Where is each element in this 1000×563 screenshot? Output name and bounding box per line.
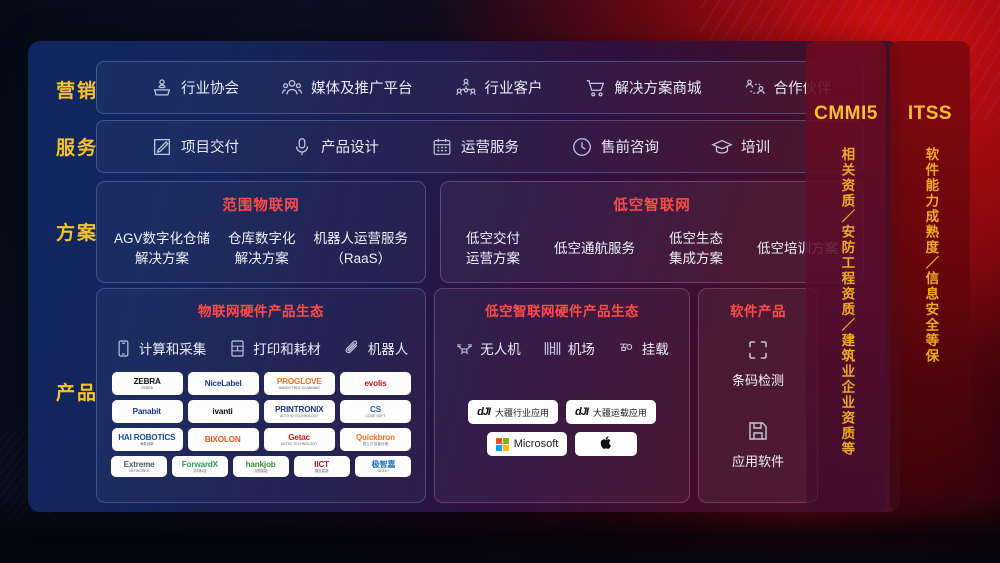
marketing-item-industry-association[interactable]: 行业协会 [151, 77, 239, 99]
product-box-iot-hardware: 物联网硬件产品生态 计算和采集 打印和耗材 机器人 ZEBRAZEBRANice… [96, 288, 426, 503]
partner-logo-chip[interactable]: Microsoft [487, 432, 568, 456]
product-cat-print-consumables[interactable]: 打印和耗材 [228, 338, 321, 358]
software-item-application-software[interactable]: 应用软件 [699, 419, 817, 470]
software-item-label: 应用软件 [699, 451, 817, 470]
product-cat-label: 机场 [568, 338, 595, 358]
partner-logo-name: NiceLabel [205, 379, 242, 387]
partner-logo-chip[interactable]: ForwardX灵动科技 [172, 456, 228, 477]
solution-title-low-altitude: 低空智联网 [441, 194, 863, 215]
product-cat-robot[interactable]: 机器人 [343, 338, 409, 358]
partner-logo-subtitle: ZEBRA [133, 387, 160, 390]
service-item-label: 培训 [741, 136, 770, 157]
partner-logo-chip[interactable]: 极智嘉GEEK+ [355, 456, 411, 477]
marketing-row: 行业协会 媒体及推广平台 行业客户 解决方案商城 合作伙伴 [96, 61, 864, 114]
dji-logo-icon: dJI [575, 406, 588, 418]
paperclip-robot-icon [343, 339, 362, 358]
product-cat-compute-capture[interactable]: 计算和采集 [114, 338, 207, 358]
calendar-icon [431, 136, 453, 158]
solution-title-iot: 范围物联网 [97, 194, 425, 215]
partner-logo-name: GetacGETAC TECHNOLOGY [281, 433, 318, 446]
partner-logo-chip[interactable]: GetacGETAC TECHNOLOGY [264, 428, 335, 451]
marketing-item-industry-customer[interactable]: 行业客户 [455, 77, 543, 99]
shopping-cart-icon [585, 77, 607, 99]
product-cat-label: 计算和采集 [139, 338, 207, 358]
partner-logo-name: Microsoft [514, 438, 559, 450]
product-cat-airport[interactable]: 机场 [543, 338, 595, 358]
printer-icon [228, 339, 247, 358]
product-cat-drone[interactable]: 无人机 [455, 338, 521, 358]
service-item-presale-consulting[interactable]: 售前咨询 [571, 136, 659, 158]
network-users-icon [455, 77, 477, 99]
service-item-label: 产品设计 [321, 136, 379, 157]
microphone-icon [291, 136, 313, 158]
software-item-barcode-detection[interactable]: 条码检测 [699, 338, 817, 389]
product-cat-label: 挂载 [642, 338, 669, 358]
partner-logo-name: 大疆行业应用 [495, 406, 549, 419]
partner-logo-subtitle: 快立方 智能仓储 [355, 443, 394, 446]
people-group-icon [281, 77, 303, 99]
barcode-scan-frame-icon [746, 338, 770, 362]
solution-item-llw-aviation[interactable]: 低空通航服务 [554, 239, 635, 259]
product-cat-label: 无人机 [480, 338, 521, 358]
partner-logo-name: Quickbron快立方 智能仓储 [355, 433, 394, 446]
partner-logo-chip[interactable]: hankjob汉德智能 [233, 456, 289, 477]
service-item-label: 售前咨询 [601, 136, 659, 157]
mobile-device-icon [114, 339, 133, 358]
partner-logo-chip[interactable]: PRINTRONIXAUTO ID TECHNOLOGY [264, 400, 335, 423]
service-item-project-delivery[interactable]: 项目交付 [151, 136, 239, 158]
architecture-diagram-panel: 营销 服务 方案 产品 行业协会 媒体及推广平台 行业客户 解决方案商城 [28, 41, 900, 512]
solution-item-llw-ecosystem[interactable]: 低空生态 集成方案 [669, 229, 723, 270]
partner-logo-chip[interactable]: dJI大疆运载应用 [566, 400, 656, 424]
software-item-label: 条码检测 [699, 370, 817, 389]
partner-logo-name: IICT国自智能 [315, 460, 330, 473]
product-box-software: 软件产品 条码检测 应用软件 [698, 288, 818, 503]
partner-logo-subtitle: GEEK+ [371, 470, 395, 473]
graduation-cap-icon [711, 136, 733, 158]
partner-logo-name: hankjob汉德智能 [246, 460, 276, 473]
partner-logo-name: PROGLOVEHANDS FREE SCANNING [277, 377, 322, 390]
solution-item-warehouse-digital[interactable]: 仓库数字化 解决方案 [228, 229, 296, 270]
partner-logo-name: PRINTRONIXAUTO ID TECHNOLOGY [275, 405, 323, 418]
partner-logo-chip[interactable]: HAI ROBOTICS海柔创新 [112, 428, 183, 451]
solution-item-raas[interactable]: 机器人运营服务 （RaaS） [313, 229, 408, 270]
floppy-disk-icon [746, 419, 770, 443]
partner-logo-name: ExtremeNETWORKS [124, 460, 155, 473]
marketing-item-label: 媒体及推广平台 [311, 77, 413, 98]
solution-item-agv-warehouse[interactable]: AGV数字化仓储 解决方案 [114, 229, 210, 270]
partner-logo-chip[interactable]: Panabit [112, 400, 183, 423]
marketing-item-label: 行业客户 [485, 77, 543, 98]
partner-logo-subtitle: 国自智能 [315, 470, 330, 473]
service-item-training[interactable]: 培训 [711, 136, 770, 158]
product-box-low-altitude-hardware: 低空智联网硬件产品生态 无人机 机场 挂载 dJI大疆行业应用dJI大疆运载应用… [434, 288, 690, 503]
partner-logo-name: BIXOLON [205, 435, 241, 443]
dji-logo-icon: dJI [477, 406, 490, 418]
product-title-software: 软件产品 [699, 300, 817, 320]
partner-logo-chip[interactable] [575, 432, 637, 456]
partner-logo-chip[interactable]: Quickbron快立方 智能仓储 [340, 428, 411, 451]
certification-panel-cmmi5: CMMI5 相关资质／安防工程资质／建筑业企业资质等 [806, 41, 886, 512]
partner-logo-name: HAI ROBOTICS海柔创新 [118, 433, 175, 446]
drone-icon [455, 339, 474, 358]
partner-logo-name: ForwardX灵动科技 [182, 460, 218, 473]
service-item-label: 项目交付 [181, 136, 239, 157]
service-item-product-design[interactable]: 产品设计 [291, 136, 379, 158]
partner-logo-chip[interactable]: dJI大疆行业应用 [468, 400, 558, 424]
partner-logo-subtitle: GETAC TECHNOLOGY [281, 443, 318, 446]
product-cat-payload[interactable]: 挂载 [617, 338, 669, 358]
partner-logo-subtitle: 灵动科技 [182, 470, 218, 473]
certification-code: ITSS [908, 103, 952, 125]
product-cat-label: 机器人 [368, 338, 409, 358]
partner-logo-chip[interactable]: ExtremeNETWORKS [111, 456, 167, 477]
certification-description: 相关资质／安防工程资质／建筑业企业资质等 [839, 147, 854, 457]
airport-icon [543, 339, 562, 358]
solution-box-iot: 范围物联网 AGV数字化仓储 解决方案 仓库数字化 解决方案 机器人运营服务 （… [96, 181, 426, 283]
partner-logo-subtitle: NETWORKS [124, 470, 155, 473]
low-altitude-partner-logo-grid: dJI大疆行业应用dJI大疆运载应用Microsoft [435, 400, 689, 456]
pencil-square-icon [151, 136, 173, 158]
marketing-item-media-platform[interactable]: 媒体及推广平台 [281, 77, 413, 99]
product-title-iot: 物联网硬件产品生态 [97, 300, 425, 320]
partner-logo-chip[interactable]: NiceLabel [188, 372, 259, 395]
service-item-operation-service[interactable]: 运营服务 [431, 136, 519, 158]
marketing-item-label: 解决方案商城 [615, 77, 702, 98]
partner-logo-chip[interactable]: ZEBRAZEBRA [112, 372, 183, 395]
certification-description: 软件能力成熟度／信息安全等保 [923, 147, 938, 364]
partner-logo-subtitle: HANDS FREE SCANNING [277, 387, 322, 390]
partner-logo-subtitle: CODE SOFT [365, 415, 385, 418]
microsoft-logo-icon [496, 438, 509, 451]
partner-logo-name: 大疆运载应用 [593, 406, 647, 419]
partner-logo-chip[interactable]: evolis [340, 372, 411, 395]
partner-logo-name: 极智嘉GEEK+ [371, 460, 395, 473]
partner-logo-chip[interactable]: ivanti [188, 400, 259, 423]
partner-logo-name: Panabit [133, 407, 161, 415]
solution-box-low-altitude: 低空智联网 低空交付 运营方案 低空通航服务 低空生态 集成方案 低空培训方案 [440, 181, 864, 283]
partner-logo-subtitle: AUTO ID TECHNOLOGY [275, 415, 323, 418]
partner-logo-name: ZEBRAZEBRA [133, 377, 160, 390]
partner-logo-subtitle: 海柔创新 [118, 443, 175, 446]
payload-mount-icon [617, 339, 636, 358]
certification-code: CMMI5 [814, 103, 878, 125]
partner-logo-chip[interactable]: BIXOLON [188, 428, 259, 451]
apple-logo-icon [584, 435, 628, 454]
partner-logo-subtitle: 汉德智能 [246, 470, 276, 473]
solution-item-llw-delivery[interactable]: 低空交付 运营方案 [466, 229, 520, 270]
product-title-low-altitude: 低空智联网硬件产品生态 [435, 300, 689, 320]
partner-logo-chip[interactable]: PROGLOVEHANDS FREE SCANNING [264, 372, 335, 395]
marketing-item-label: 行业协会 [181, 77, 239, 98]
service-item-label: 运营服务 [461, 136, 519, 157]
product-cat-label: 打印和耗材 [253, 338, 321, 358]
certification-panel-itss: ITSS 软件能力成熟度／信息安全等保 [890, 41, 970, 512]
partner-logo-name: evolis [364, 379, 386, 387]
partner-logo-chip[interactable]: IICT国自智能 [294, 456, 350, 477]
partner-logo-name: ivanti [213, 407, 233, 415]
partner-logo-chip[interactable]: CSCODE SOFT [340, 400, 411, 423]
handshake-partners-icon [744, 77, 766, 99]
presenter-icon [151, 77, 173, 99]
marketing-item-solution-mall[interactable]: 解决方案商城 [585, 77, 702, 99]
iot-partner-logo-grid: ZEBRAZEBRANiceLabelPROGLOVEHANDS FREE SC… [97, 372, 425, 477]
service-row: 项目交付 产品设计 运营服务 售前咨询 培训 [96, 120, 864, 173]
clock-icon [571, 136, 593, 158]
partner-logo-name: CSCODE SOFT [365, 405, 385, 418]
